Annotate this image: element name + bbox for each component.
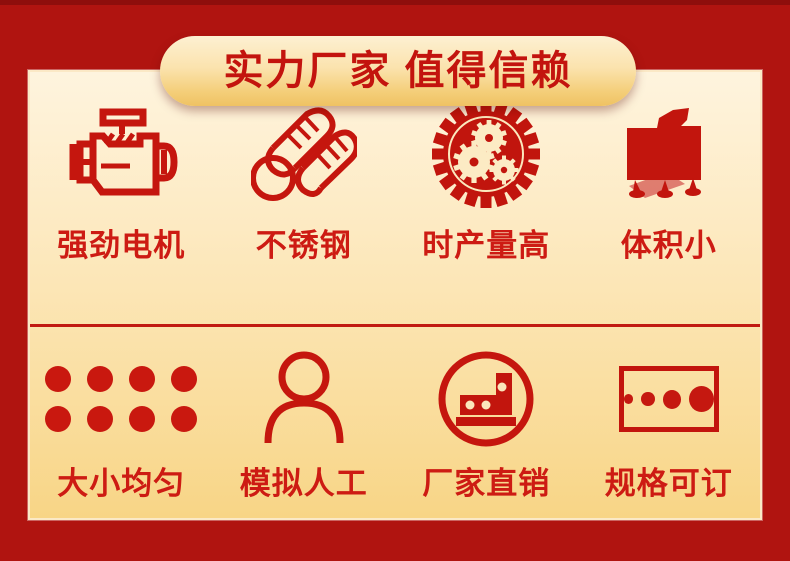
- steel-pipes-icon: [251, 94, 357, 214]
- dot: [171, 366, 197, 392]
- machine-icon: [615, 94, 723, 214]
- feature-label: 大小均匀: [57, 468, 185, 499]
- spec-dot-xs: [624, 394, 634, 404]
- feature-label: 模拟人工: [240, 468, 368, 499]
- promo-banner-root: 实力厂家 值得信赖: [0, 0, 790, 561]
- feature-label: 强劲电机: [57, 230, 185, 261]
- spec-dot-s: [641, 392, 654, 406]
- feature-row-2: 大小均匀 模拟人工: [30, 330, 760, 520]
- engine-icon: [60, 94, 182, 214]
- feature-item-custom-spec[interactable]: 规格可订: [578, 330, 761, 520]
- headline-pill: 实力厂家 值得信赖: [160, 36, 636, 106]
- feature-item-compact[interactable]: 体积小: [578, 82, 761, 322]
- headline-text: 实力厂家 值得信赖: [223, 51, 572, 91]
- dot: [171, 406, 197, 432]
- feature-item-factory-direct[interactable]: 厂家直销: [395, 330, 578, 520]
- dot: [129, 366, 155, 392]
- gear-icon: [431, 94, 541, 214]
- factory-circle-icon: [434, 344, 538, 454]
- feature-label: 体积小: [621, 230, 717, 261]
- feature-row-1: 强劲电机: [30, 82, 760, 322]
- feature-label: 不锈钢: [256, 230, 352, 261]
- feature-label: 厂家直销: [422, 468, 550, 499]
- dot: [45, 366, 71, 392]
- spec-sizes-icon: [619, 344, 719, 454]
- feature-item-uniform-size[interactable]: 大小均匀: [30, 330, 213, 520]
- top-accent-strip: [0, 0, 790, 5]
- dot: [87, 366, 113, 392]
- feature-item-engine[interactable]: 强劲电机: [30, 82, 213, 322]
- dot: [87, 406, 113, 432]
- spec-dot-l: [689, 386, 714, 412]
- dots-grid: [45, 366, 197, 432]
- feature-item-output[interactable]: 时产量高: [395, 82, 578, 322]
- dot: [129, 406, 155, 432]
- feature-item-simulated-manual[interactable]: 模拟人工: [213, 330, 396, 520]
- spec-frame: [619, 366, 719, 432]
- dots-grid-icon: [45, 344, 197, 454]
- feature-label: 时产量高: [422, 230, 550, 261]
- person-icon: [258, 344, 350, 454]
- row-divider: [30, 324, 760, 327]
- spec-dot-m: [663, 390, 681, 409]
- dot: [45, 406, 71, 432]
- feature-label: 规格可订: [605, 468, 733, 499]
- features-card: 强劲电机: [28, 70, 762, 520]
- feature-item-stainless-steel[interactable]: 不锈钢: [213, 82, 396, 322]
